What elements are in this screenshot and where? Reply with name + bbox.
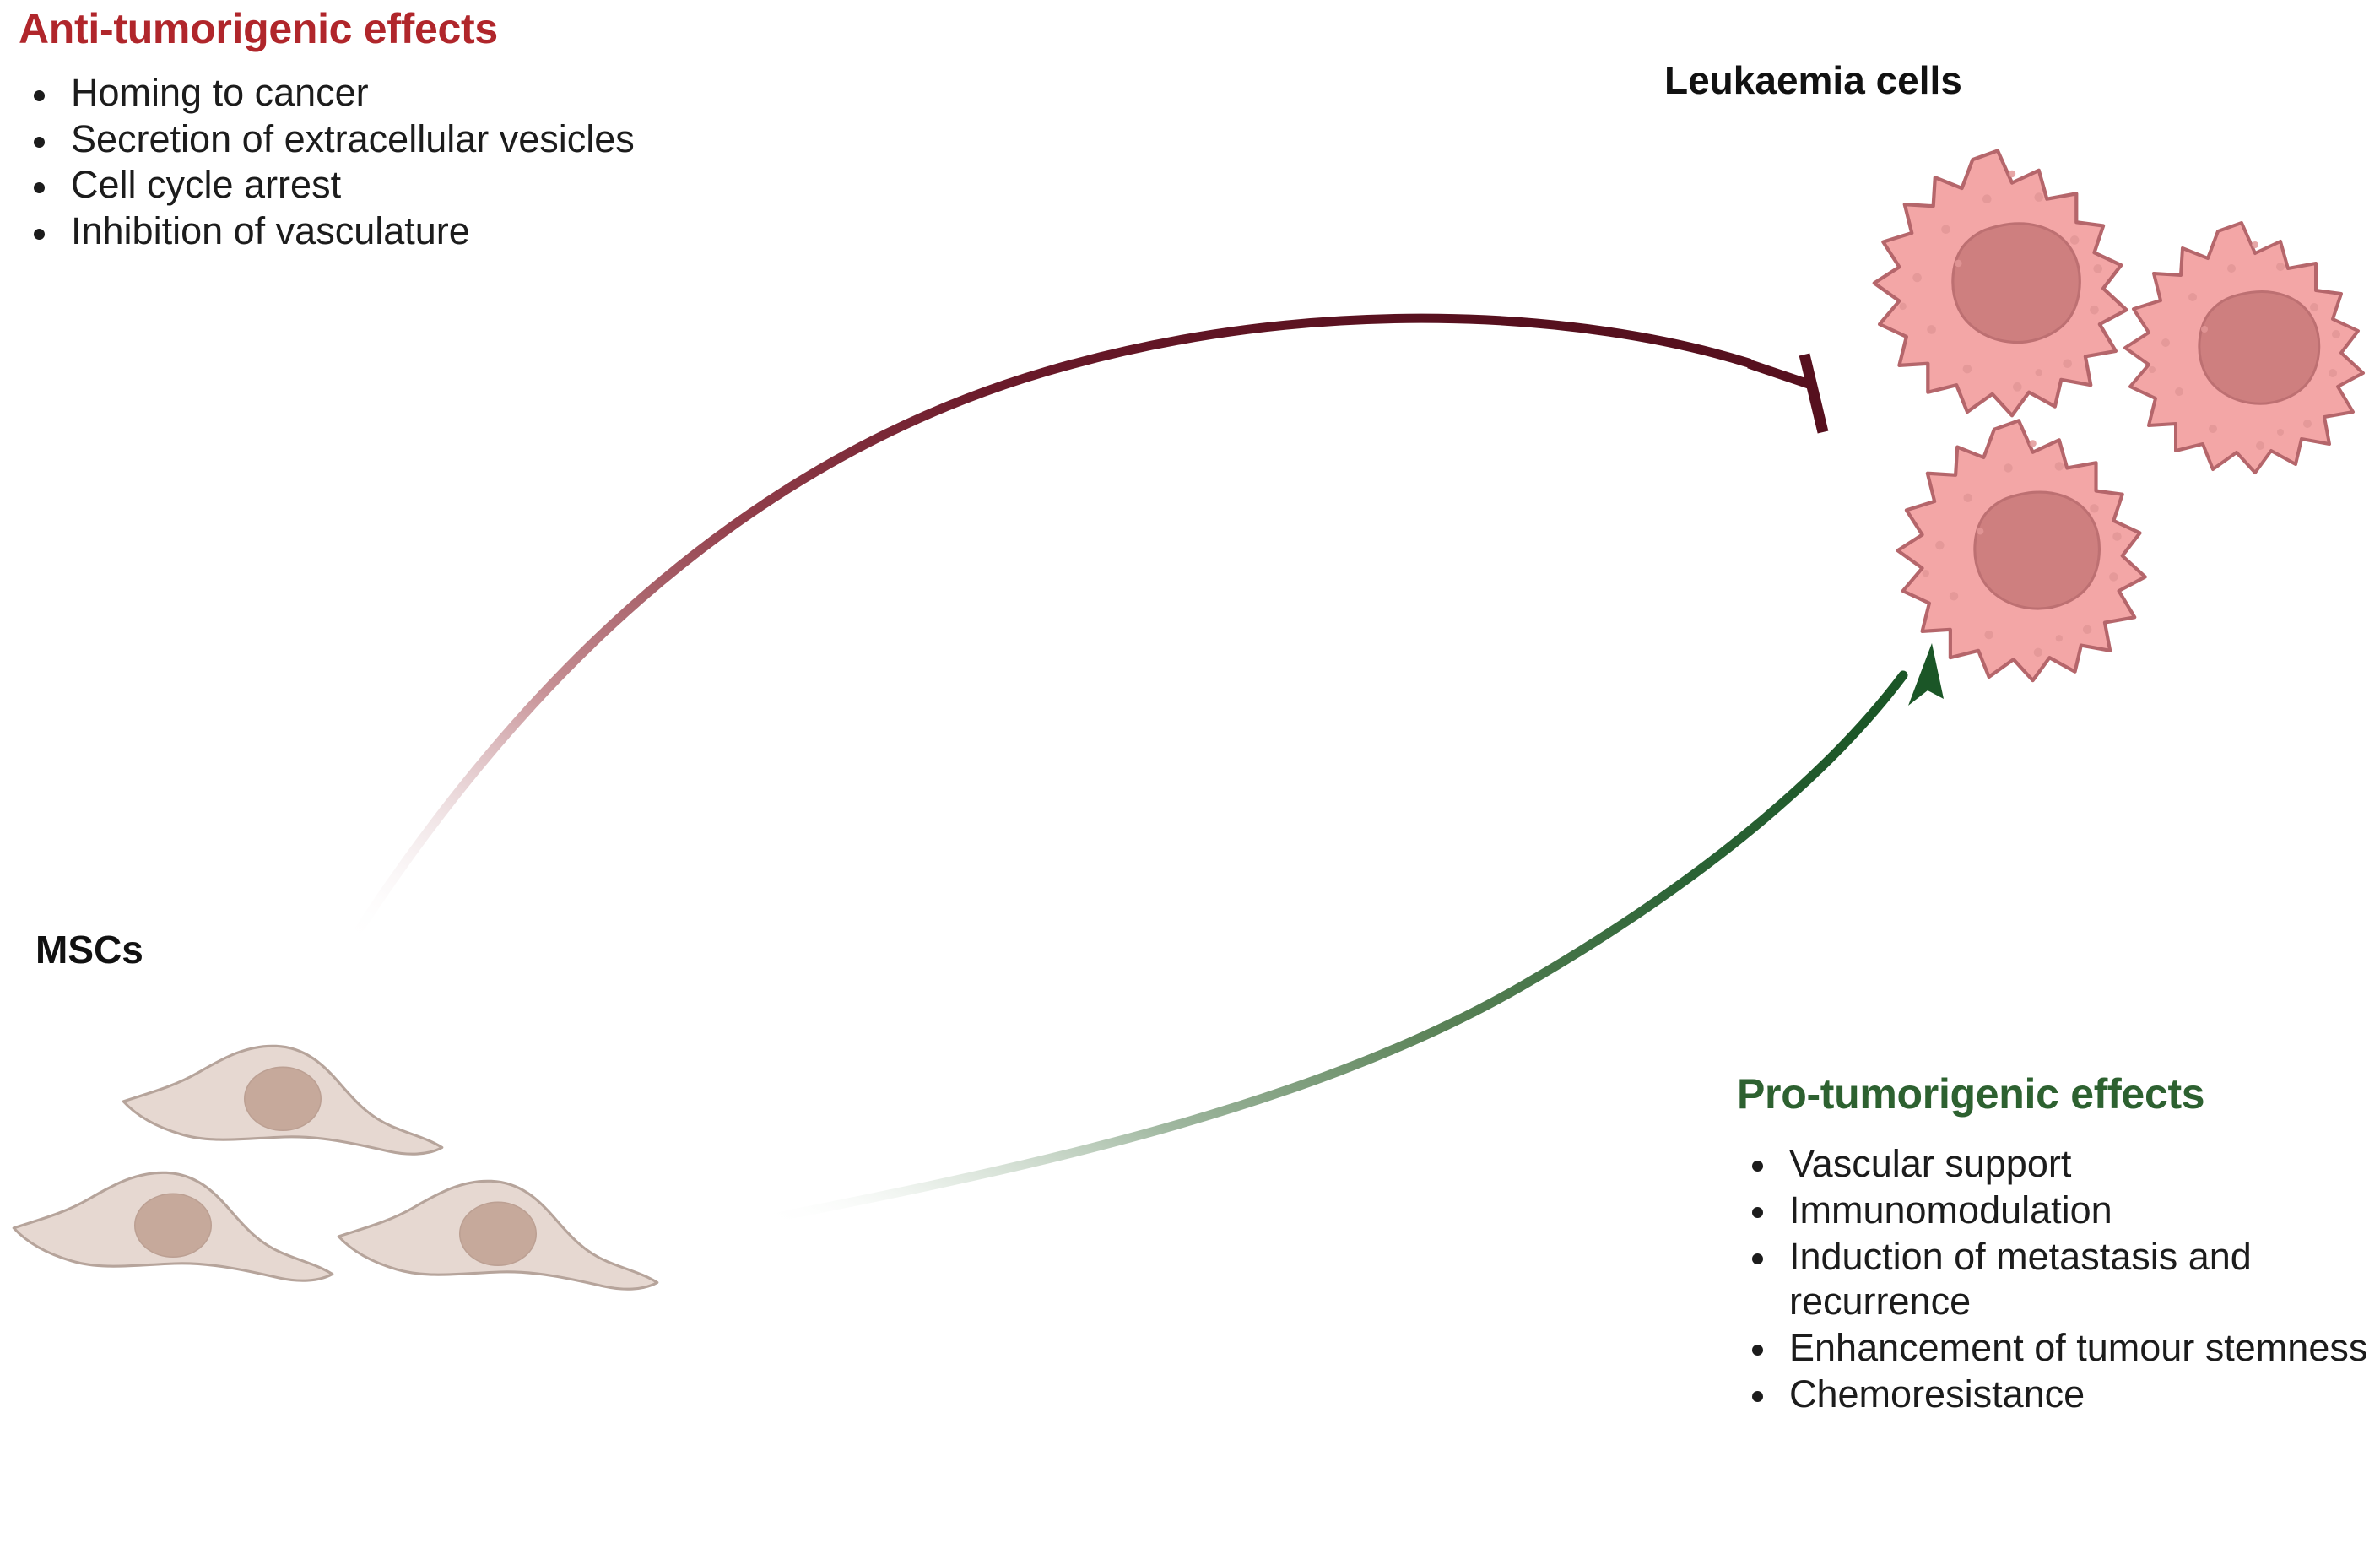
list-item: Inhibition of vasculature [19,209,744,254]
leukaemia-cell [1897,420,2145,680]
mscs-label: MSCs [35,927,143,972]
msc-cell [14,1172,333,1280]
msc-cell [338,1181,657,1289]
anti-tumorigenic-heading: Anti-tumorigenic effects [19,5,744,52]
list-item: Enhancement of tumour stemness [1737,1325,2378,1370]
list-item: Vascular support [1737,1141,2378,1186]
list-item: Cell cycle arrest [19,163,744,208]
anti-tumorigenic-list: Homing to cancer Secretion of extracellu… [19,71,744,254]
msc-cell-group [14,1046,657,1289]
list-item: Secretion of extracellular vesicles [19,117,744,162]
leukaemia-cells-label: Leukaemia cells [1664,57,1962,103]
list-item: Chemoresistance [1737,1372,2378,1416]
anti-tumorigenic-inhibition-arrow [323,318,1823,986]
pro-tumorigenic-list: Vascular support Immunomodulation Induct… [1737,1141,2378,1417]
leukaemia-cell [2125,223,2363,473]
diagram-canvas: .leuk-body { fill: #F3A6A6; stroke: #B56… [0,0,2380,1559]
leukaemia-cell [1874,150,2127,415]
list-item: Induction of metastasis and recurrence [1737,1234,2378,1324]
list-item: Homing to cancer [19,71,744,116]
pro-tumorigenic-panel: Pro-tumorigenic effects Vascular support… [1737,1070,2378,1419]
anti-tumorigenic-panel: Anti-tumorigenic effects Homing to cance… [19,5,744,256]
msc-cell [123,1046,442,1154]
leukaemia-cell-group [1874,150,2363,680]
pro-tumorigenic-heading: Pro-tumorigenic effects [1737,1070,2378,1118]
list-item: Immunomodulation [1737,1188,2378,1232]
